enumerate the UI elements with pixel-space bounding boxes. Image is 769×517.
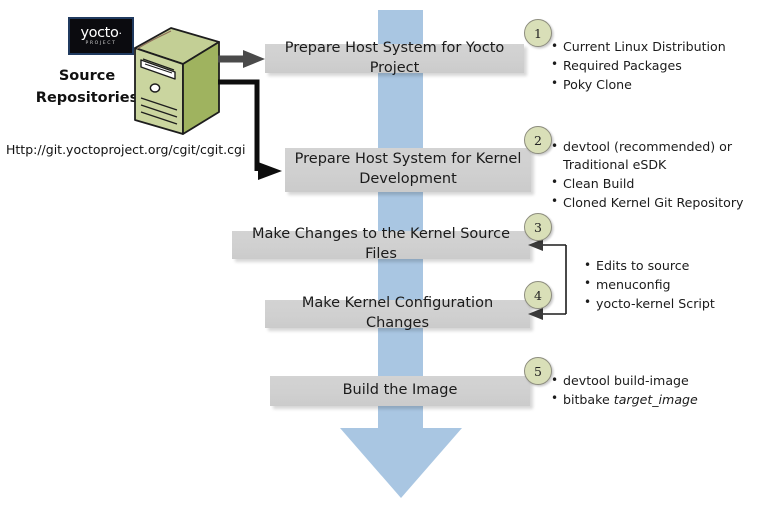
- step-number-text: 4: [534, 288, 542, 303]
- note-item: Clean Build: [551, 175, 763, 193]
- note-item: Edits to source: [584, 257, 754, 275]
- note-item-emphasis: target_image: [614, 392, 698, 407]
- notes-list-step-2: devtool (recommended) or Traditional eSD…: [551, 138, 763, 213]
- note-item: devtool build-image: [551, 372, 751, 390]
- step-number-badge-5: 5: [524, 357, 552, 385]
- step-number-badge-1: 1: [524, 19, 552, 47]
- step-number-badge-3: 3: [524, 213, 552, 241]
- note-item: Current Linux Distribution: [551, 38, 756, 56]
- note-item: Required Packages: [551, 57, 756, 75]
- note-item: devtool (recommended) or Traditional eSD…: [551, 138, 763, 174]
- step-number-badge-2: 2: [524, 126, 552, 154]
- note-item: menuconfig: [584, 276, 754, 294]
- note-item: Cloned Kernel Git Repository: [551, 194, 763, 212]
- notes-list-steps-3-4: Edits to sourcemenuconfigyocto-kernel Sc…: [584, 257, 754, 314]
- step-number-text: 2: [534, 133, 542, 148]
- notes-ul: Current Linux DistributionRequired Packa…: [551, 38, 756, 94]
- diagram-canvas: yocto· PROJECT Source Repositories Http:…: [0, 0, 769, 517]
- step-number-text: 1: [534, 26, 542, 41]
- step-number-badge-4: 4: [524, 281, 552, 309]
- note-item: bitbake target_image: [551, 391, 751, 409]
- step-number-text: 3: [534, 220, 542, 235]
- notes-list-step-5: devtool build-imagebitbake target_image: [551, 372, 751, 410]
- notes-ul: devtool build-imagebitbake target_image: [551, 372, 751, 409]
- note-item: yocto-kernel Script: [584, 295, 754, 313]
- notes-list-step-1: Current Linux DistributionRequired Packa…: [551, 38, 756, 95]
- note-item: Poky Clone: [551, 76, 756, 94]
- notes-ul: Edits to sourcemenuconfigyocto-kernel Sc…: [584, 257, 754, 313]
- notes-ul: devtool (recommended) or Traditional eSD…: [551, 138, 763, 212]
- step-number-text: 5: [534, 364, 542, 379]
